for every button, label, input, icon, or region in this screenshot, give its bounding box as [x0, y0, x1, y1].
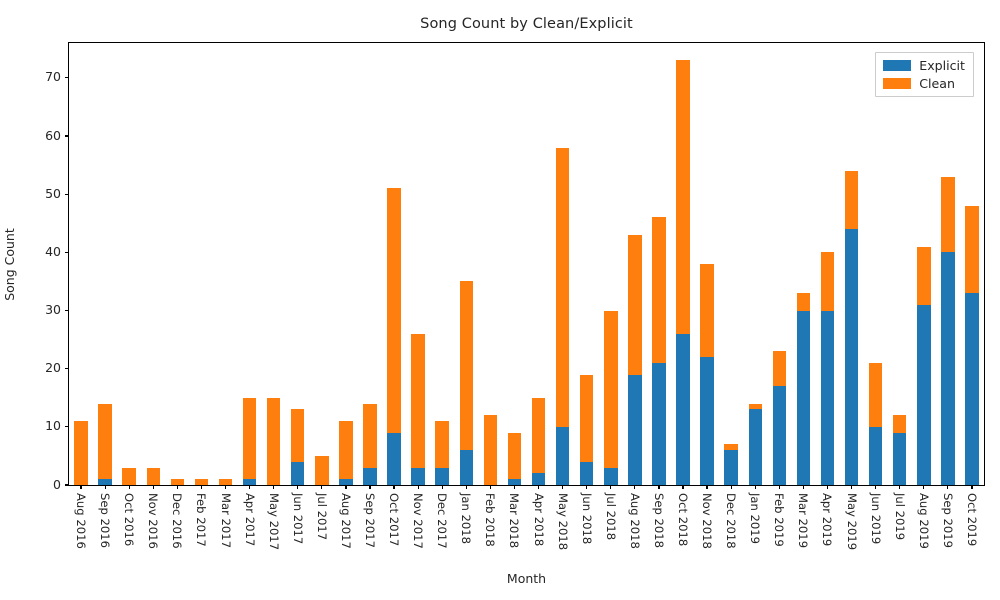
bar-group: [532, 43, 545, 485]
y-tick-label: 50: [45, 186, 61, 201]
x-tick-mark: [971, 485, 972, 489]
bar-segment-clean: [821, 252, 834, 310]
bar-group: [749, 43, 762, 485]
x-tick-mark: [225, 485, 226, 489]
bar-segment-clean: [411, 334, 424, 468]
x-tick-label: May 2019: [845, 493, 859, 550]
x-tick-label: Aug 2016: [74, 493, 88, 549]
bar-segment-explicit: [917, 305, 930, 485]
x-tick-label: Apr 2018: [532, 493, 546, 546]
x-tick-mark: [490, 485, 491, 489]
bar-segment-clean: [315, 456, 328, 485]
bar-segment-clean: [243, 398, 256, 479]
bar-group: [893, 43, 906, 485]
bar-segment-clean: [893, 415, 906, 432]
bar-group: [652, 43, 665, 485]
x-tick-mark: [875, 485, 876, 489]
x-tick-mark: [80, 485, 81, 489]
x-tick-label: Aug 2017: [339, 493, 353, 549]
x-tick-mark: [418, 485, 419, 489]
bar-group: [435, 43, 448, 485]
bar-segment-clean: [773, 351, 786, 386]
bar-group: [724, 43, 737, 485]
x-tick-label: Apr 2019: [820, 493, 834, 546]
x-tick-mark: [610, 485, 611, 489]
x-tick-mark: [177, 485, 178, 489]
bar-segment-explicit: [869, 427, 882, 485]
chart-title: Song Count by Clean/Explicit: [68, 16, 985, 32]
legend-label-clean: Clean: [919, 76, 955, 91]
bar-segment-clean: [267, 398, 280, 485]
bar-group: [845, 43, 858, 485]
chart-figure: Song Count by Clean/Explicit Song Count …: [0, 0, 1000, 600]
bar-group: [628, 43, 641, 485]
plot-axes: 010203040506070 Aug 2016Sep 2016Oct 2016…: [68, 42, 985, 486]
x-tick-label: Feb 2019: [772, 493, 786, 547]
y-tick-label: 70: [45, 69, 61, 84]
y-tick-mark: [65, 77, 69, 78]
bar-segment-explicit: [411, 468, 424, 485]
y-axis-label-text: Song Count: [2, 228, 17, 301]
x-tick-label: Jan 2019: [748, 493, 762, 544]
y-tick-mark: [65, 484, 69, 485]
bar-segment-clean: [749, 404, 762, 410]
bar-segment-clean: [74, 421, 87, 485]
bar-segment-clean: [676, 60, 689, 333]
x-tick-mark: [369, 485, 370, 489]
x-tick-label: Dec 2017: [435, 493, 449, 549]
x-tick-mark: [538, 485, 539, 489]
bar-segment-clean: [869, 363, 882, 427]
x-tick-mark: [899, 485, 900, 489]
legend-swatch-clean: [883, 78, 911, 89]
bar-group: [917, 43, 930, 485]
bar-segment-clean: [363, 404, 376, 468]
bar-group: [98, 43, 111, 485]
x-tick-mark: [153, 485, 154, 489]
bar-group: [122, 43, 135, 485]
x-tick-label: Oct 2018: [676, 493, 690, 546]
bar-group: [171, 43, 184, 485]
x-tick-mark: [658, 485, 659, 489]
bar-segment-clean: [628, 235, 641, 375]
bar-group: [965, 43, 978, 485]
bar-group: [291, 43, 304, 485]
bar-group: [387, 43, 400, 485]
bar-group: [941, 43, 954, 485]
x-tick-mark: [393, 485, 394, 489]
bar-segment-clean: [484, 415, 497, 485]
bar-segment-clean: [508, 433, 521, 480]
x-tick-label: Jun 2018: [580, 493, 594, 544]
x-tick-mark: [562, 485, 563, 489]
x-tick-mark: [682, 485, 683, 489]
bar-segment-clean: [652, 217, 665, 362]
bar-group: [700, 43, 713, 485]
bar-segment-explicit: [363, 468, 376, 485]
plot-area: [69, 43, 984, 485]
x-tick-mark: [947, 485, 948, 489]
x-tick-label: Dec 2016: [170, 493, 184, 549]
bar-segment-clean: [387, 188, 400, 432]
bar-segment-explicit: [460, 450, 473, 485]
x-tick-label: Jul 2018: [604, 493, 618, 540]
x-tick-mark: [851, 485, 852, 489]
x-tick-label: Jul 2017: [315, 493, 329, 540]
x-tick-label: Mar 2019: [796, 493, 810, 548]
bar-segment-clean: [122, 468, 135, 485]
bar-segment-explicit: [700, 357, 713, 485]
x-tick-label: Sep 2018: [652, 493, 666, 548]
bar-segment-clean: [724, 444, 737, 450]
bar-segment-explicit: [435, 468, 448, 485]
y-tick-mark: [65, 310, 69, 311]
x-tick-mark: [779, 485, 780, 489]
x-tick-label: Sep 2019: [941, 493, 955, 548]
bar-segment-clean: [604, 311, 617, 468]
bar-group: [773, 43, 786, 485]
bar-segment-explicit: [845, 229, 858, 485]
x-tick-label: Aug 2019: [917, 493, 931, 549]
x-tick-mark: [273, 485, 274, 489]
x-tick-mark: [803, 485, 804, 489]
bar-group: [460, 43, 473, 485]
y-tick-label: 10: [45, 418, 61, 433]
bar-segment-clean: [580, 375, 593, 462]
bar-segment-clean: [941, 177, 954, 253]
bar-group: [363, 43, 376, 485]
x-tick-label: Nov 2017: [411, 493, 425, 549]
y-tick-label: 40: [45, 244, 61, 259]
x-tick-label: Apr 2017: [243, 493, 257, 546]
bar-segment-clean: [700, 264, 713, 357]
y-tick-mark: [65, 426, 69, 427]
bar-segment-explicit: [652, 363, 665, 485]
x-tick-label: May 2017: [267, 493, 281, 550]
bar-group: [676, 43, 689, 485]
bar-group: [604, 43, 617, 485]
bar-segment-explicit: [749, 409, 762, 485]
legend-entry-explicit: Explicit: [883, 58, 965, 73]
x-tick-mark: [249, 485, 250, 489]
x-tick-mark: [827, 485, 828, 489]
legend-label-explicit: Explicit: [919, 58, 965, 73]
bar-segment-explicit: [532, 473, 545, 485]
x-tick-mark: [706, 485, 707, 489]
x-tick-label: Oct 2016: [122, 493, 136, 546]
bar-series-container: [69, 43, 984, 485]
chart-legend: Explicit Clean: [875, 52, 974, 97]
bar-segment-explicit: [893, 433, 906, 485]
x-tick-mark: [321, 485, 322, 489]
bar-segment-clean: [965, 206, 978, 293]
bar-group: [411, 43, 424, 485]
bar-segment-clean: [339, 421, 352, 479]
y-tick-mark: [65, 194, 69, 195]
bar-segment-clean: [797, 293, 810, 310]
bar-group: [267, 43, 280, 485]
y-tick-label: 0: [53, 477, 61, 492]
bar-segment-clean: [98, 404, 111, 480]
bar-segment-explicit: [941, 252, 954, 485]
bar-group: [869, 43, 882, 485]
bar-segment-clean: [435, 421, 448, 468]
y-tick-label: 30: [45, 302, 61, 317]
legend-swatch-explicit: [883, 60, 911, 71]
bar-segment-explicit: [773, 386, 786, 485]
y-tick-mark: [65, 252, 69, 253]
x-tick-mark: [466, 485, 467, 489]
x-tick-mark: [442, 485, 443, 489]
bar-group: [339, 43, 352, 485]
bar-group: [195, 43, 208, 485]
bar-group: [74, 43, 87, 485]
x-tick-label: Aug 2018: [628, 493, 642, 549]
y-axis-label: Song Count: [0, 42, 18, 486]
x-tick-label: Nov 2018: [700, 493, 714, 549]
bar-segment-explicit: [821, 311, 834, 485]
x-tick-mark: [201, 485, 202, 489]
x-tick-mark: [586, 485, 587, 489]
x-tick-label: Jul 2019: [893, 493, 907, 540]
x-tick-label: Sep 2017: [363, 493, 377, 548]
x-tick-mark: [297, 485, 298, 489]
bar-segment-explicit: [965, 293, 978, 485]
bar-segment-explicit: [676, 334, 689, 485]
bar-group: [508, 43, 521, 485]
x-tick-label: Mar 2017: [219, 493, 233, 548]
bar-segment-clean: [147, 468, 160, 485]
bar-group: [797, 43, 810, 485]
bar-segment-clean: [845, 171, 858, 229]
x-tick-mark: [731, 485, 732, 489]
bar-group: [821, 43, 834, 485]
bar-group: [147, 43, 160, 485]
x-tick-label: Jan 2018: [459, 493, 473, 544]
x-tick-label: Mar 2018: [507, 493, 521, 548]
bar-segment-explicit: [604, 468, 617, 485]
bar-segment-clean: [460, 281, 473, 450]
bar-segment-clean: [291, 409, 304, 461]
x-tick-mark: [105, 485, 106, 489]
x-tick-label: Dec 2018: [724, 493, 738, 549]
y-tick-mark: [65, 135, 69, 136]
x-tick-label: Oct 2017: [387, 493, 401, 546]
legend-entry-clean: Clean: [883, 76, 965, 91]
y-tick-label: 60: [45, 128, 61, 143]
bar-segment-clean: [917, 247, 930, 305]
bar-group: [580, 43, 593, 485]
bar-group: [315, 43, 328, 485]
bar-segment-clean: [556, 148, 569, 427]
x-tick-mark: [514, 485, 515, 489]
x-tick-mark: [345, 485, 346, 489]
bar-segment-explicit: [291, 462, 304, 485]
x-tick-mark: [755, 485, 756, 489]
x-tick-label: Sep 2016: [98, 493, 112, 548]
x-tick-mark: [923, 485, 924, 489]
bar-segment-explicit: [797, 311, 810, 485]
x-tick-label: Jun 2019: [869, 493, 883, 544]
x-tick-label: Feb 2017: [194, 493, 208, 547]
x-tick-mark: [634, 485, 635, 489]
y-tick-mark: [65, 368, 69, 369]
bar-segment-explicit: [556, 427, 569, 485]
bar-segment-explicit: [724, 450, 737, 485]
x-tick-label: May 2018: [556, 493, 570, 550]
bar-group: [243, 43, 256, 485]
bar-group: [484, 43, 497, 485]
x-tick-mark: [129, 485, 130, 489]
x-tick-label: Nov 2016: [146, 493, 160, 549]
bar-segment-explicit: [628, 375, 641, 486]
bar-group: [556, 43, 569, 485]
bar-group: [219, 43, 232, 485]
bar-segment-clean: [532, 398, 545, 474]
x-axis-label: Month: [68, 571, 985, 586]
x-tick-label: Jun 2017: [291, 493, 305, 544]
x-tick-label: Oct 2019: [965, 493, 979, 546]
x-tick-label: Feb 2018: [483, 493, 497, 547]
y-tick-label: 20: [45, 360, 61, 375]
bar-segment-explicit: [387, 433, 400, 485]
bar-segment-explicit: [580, 462, 593, 485]
